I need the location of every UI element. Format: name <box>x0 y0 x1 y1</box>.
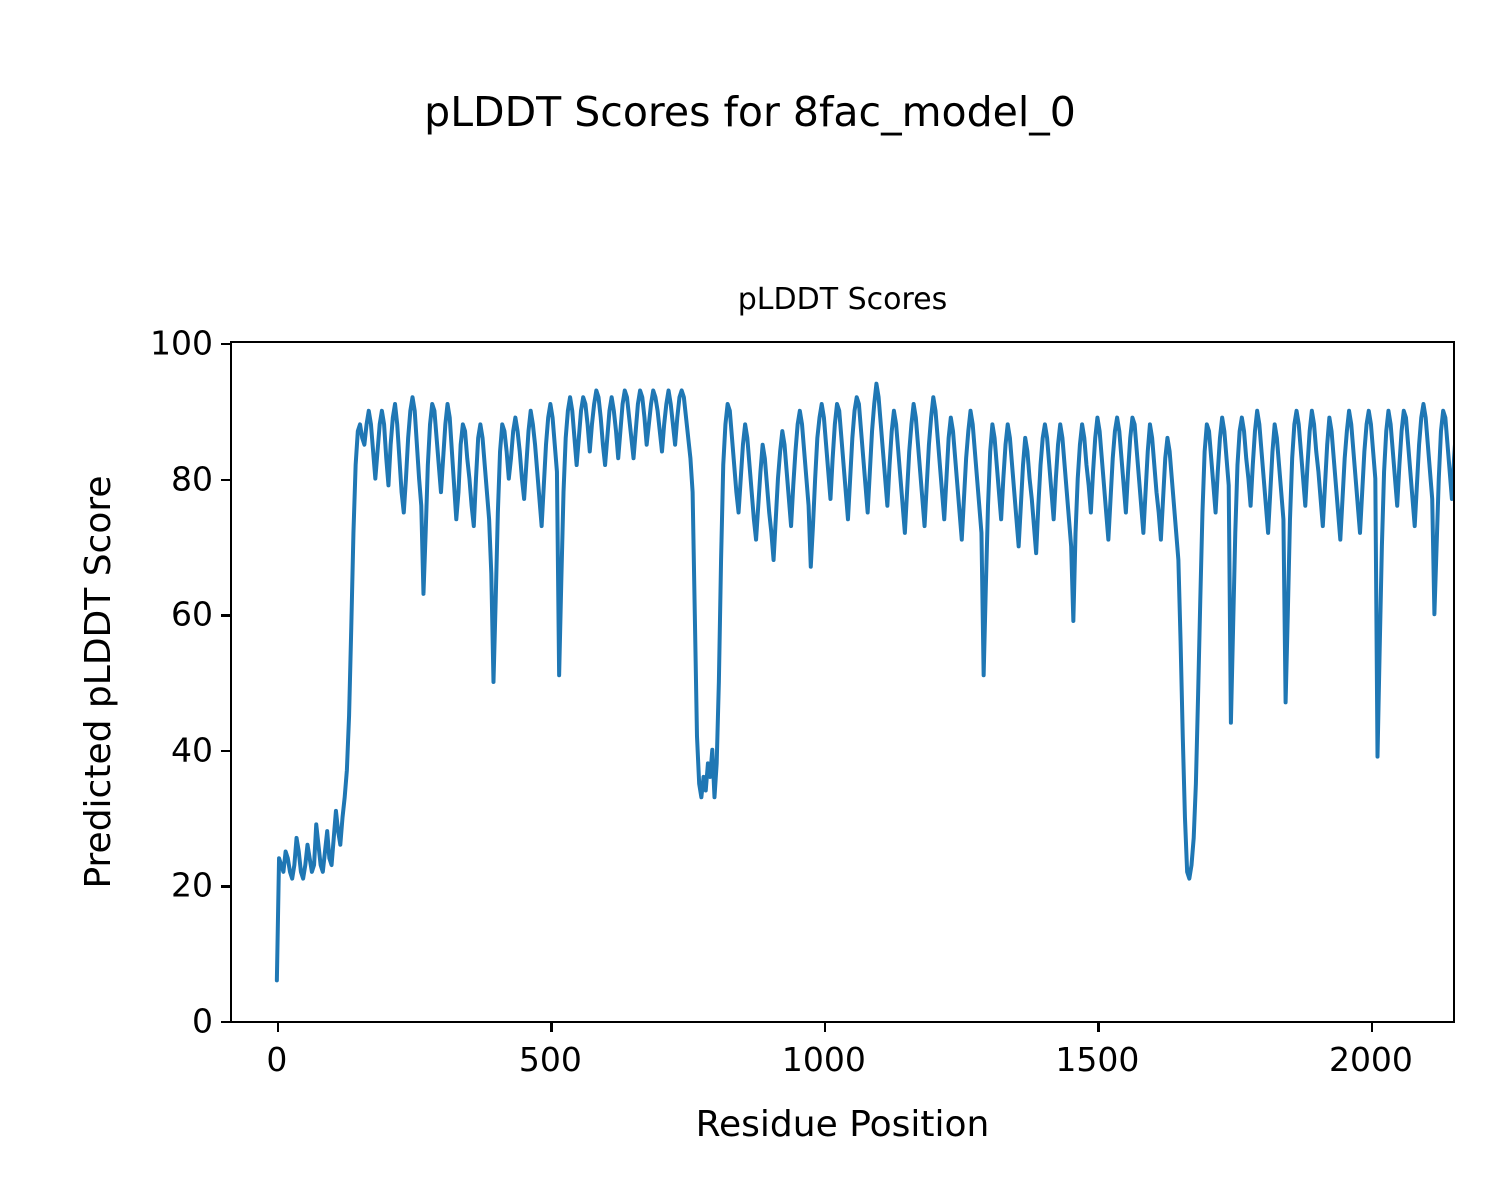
y-tick-label: 80 <box>171 459 213 498</box>
x-axis-label: Residue Position <box>230 1104 1455 1145</box>
x-tick-mark <box>277 1021 279 1032</box>
y-tick-mark <box>221 885 232 887</box>
axes-title: pLDDT Scores <box>230 282 1455 317</box>
y-tick-label: 0 <box>192 1002 213 1041</box>
figure-canvas: pLDDT Scores for 8fac_model_0 pLDDT Scor… <box>0 0 1500 1200</box>
y-tick-mark <box>221 343 232 345</box>
x-tick-mark <box>1097 1021 1099 1032</box>
x-tick-mark <box>1371 1021 1373 1032</box>
x-tick-mark <box>550 1021 552 1032</box>
plot-clip <box>232 343 1453 1021</box>
x-tick-mark <box>824 1021 826 1032</box>
y-tick-label: 40 <box>171 730 213 769</box>
figure-suptitle: pLDDT Scores for 8fac_model_0 <box>0 88 1500 136</box>
plddt-line-series <box>232 343 1453 1021</box>
x-tick-label: 0 <box>266 1040 287 1079</box>
y-tick-mark <box>221 614 232 616</box>
x-tick-label: 1500 <box>1055 1040 1139 1079</box>
x-tick-label: 1000 <box>782 1040 866 1079</box>
y-tick-mark <box>221 750 232 752</box>
plot-area: 020406080100 0500100015002000 <box>230 341 1455 1023</box>
y-tick-mark <box>221 479 232 481</box>
x-tick-label: 2000 <box>1329 1040 1413 1079</box>
y-tick-mark <box>221 1021 232 1023</box>
y-tick-label: 100 <box>150 324 213 363</box>
y-tick-label: 60 <box>171 595 213 634</box>
x-tick-label: 500 <box>519 1040 582 1079</box>
y-axis-label: Predicted pLDDT Score <box>78 341 119 1023</box>
y-tick-label: 20 <box>171 866 213 905</box>
